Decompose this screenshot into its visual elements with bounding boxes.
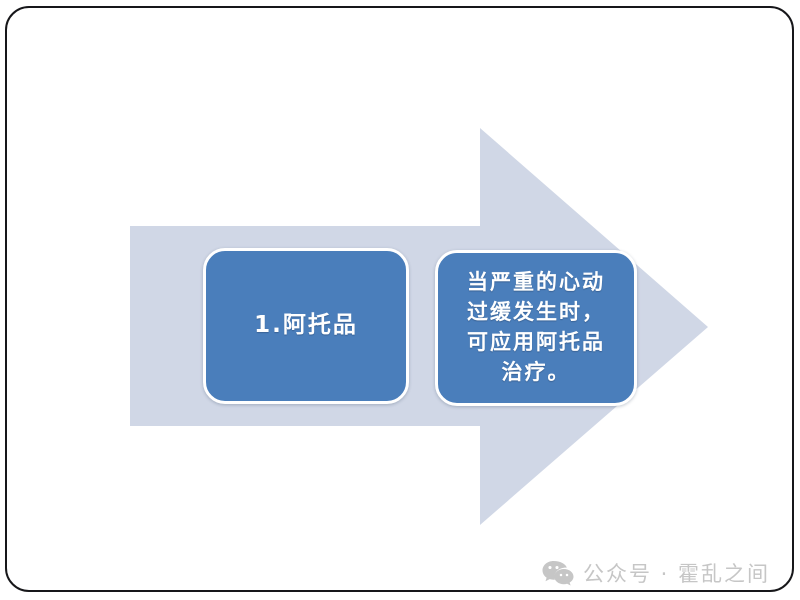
watermark: 公众号 · 霍乱之间	[542, 558, 770, 588]
slide-canvas: 1.阿托品 当严重的心动 过缓发生时， 可应用阿托品 治疗。 公众号 · 霍乱之…	[0, 0, 800, 600]
wechat-icon	[542, 560, 574, 586]
card-step-title-label: 1.阿托品	[254, 312, 358, 340]
watermark-text: 公众号 · 霍乱之间	[583, 558, 770, 588]
card-step-description-label: 当严重的心动 过缓发生时， 可应用阿托品 治疗。	[461, 268, 611, 387]
card-step-description[interactable]: 当严重的心动 过缓发生时， 可应用阿托品 治疗。	[435, 250, 637, 406]
card-step-title[interactable]: 1.阿托品	[203, 248, 409, 404]
